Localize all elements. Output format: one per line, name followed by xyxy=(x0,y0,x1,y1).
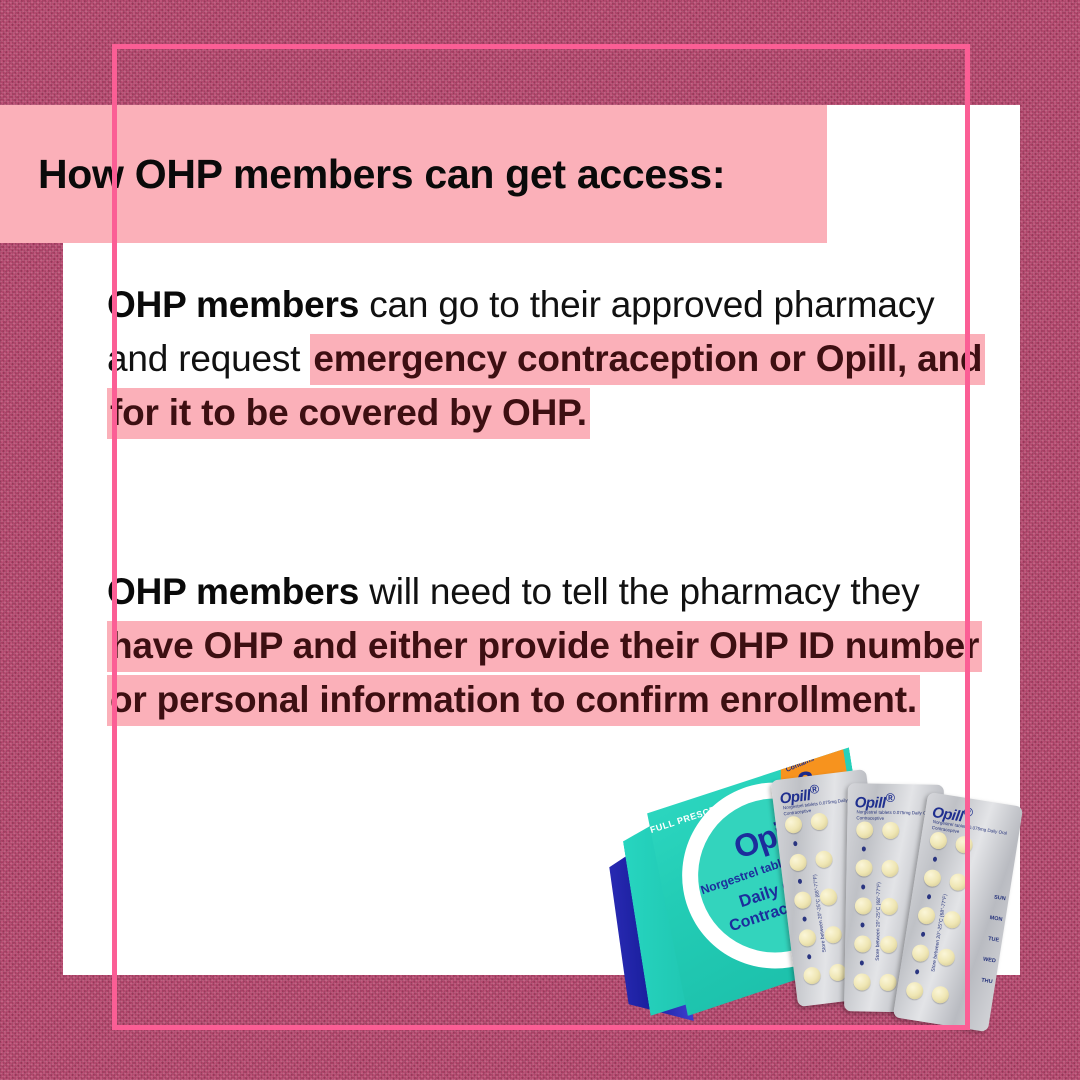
pill xyxy=(803,966,822,985)
paragraph-2: OHP members will need to tell the pharma… xyxy=(107,565,987,727)
pill xyxy=(917,906,936,925)
pill xyxy=(882,822,899,839)
body-copy-block: OHP members can go to their approved pha… xyxy=(107,278,987,727)
pill-marker xyxy=(933,856,938,862)
pill xyxy=(880,936,897,953)
pill xyxy=(881,898,898,915)
pill-marker xyxy=(793,841,798,846)
pill-marker xyxy=(861,884,865,889)
pill-marker xyxy=(807,954,812,959)
pill xyxy=(943,910,962,929)
paragraph-2-highlight: have OHP and either provide their OHP ID… xyxy=(107,621,982,726)
pill xyxy=(789,853,808,872)
pill xyxy=(923,868,942,887)
pill xyxy=(824,925,843,944)
pill xyxy=(881,860,898,877)
page-title: How OHP members can get access: xyxy=(0,154,725,195)
pill xyxy=(793,891,812,910)
pill xyxy=(814,850,833,869)
pill-marker xyxy=(798,879,803,884)
pill-marker xyxy=(915,969,920,975)
poster-canvas: FULL PRESCRIPTION STRENGTH Contains 3 x … xyxy=(0,0,1080,1080)
pill xyxy=(954,835,973,854)
pill xyxy=(810,812,829,831)
paragraph-1-lead: OHP members xyxy=(107,284,359,325)
pill xyxy=(854,935,871,952)
pill-marker xyxy=(802,916,807,921)
pill-marker xyxy=(921,932,926,938)
paragraph-2-lead: OHP members xyxy=(107,571,359,612)
pill xyxy=(853,973,870,990)
pill xyxy=(798,928,817,947)
pill xyxy=(931,985,950,1004)
pill xyxy=(879,974,896,991)
title-band: How OHP members can get access: xyxy=(0,105,827,243)
paragraph-1: OHP members can go to their approved pha… xyxy=(107,278,987,440)
pill xyxy=(905,981,924,1000)
paragraph-2-plain: will need to tell the pharmacy they xyxy=(359,571,919,612)
pill xyxy=(911,943,930,962)
pill xyxy=(948,872,967,891)
pill xyxy=(929,831,948,850)
pill-marker xyxy=(927,894,932,900)
pill xyxy=(784,815,803,834)
pill xyxy=(819,888,838,907)
pill-marker xyxy=(860,922,864,927)
opill-product-photo: FULL PRESCRIPTION STRENGTH Contains 3 x … xyxy=(612,742,1080,1022)
blister-pack-group: Opill® Norgestrel tablets 0.075mg Daily … xyxy=(784,760,1080,1000)
pill xyxy=(855,897,872,914)
pill xyxy=(937,947,956,966)
pill-marker xyxy=(860,960,864,965)
pill-marker xyxy=(862,846,866,851)
pill xyxy=(855,859,872,876)
pill xyxy=(856,821,873,838)
